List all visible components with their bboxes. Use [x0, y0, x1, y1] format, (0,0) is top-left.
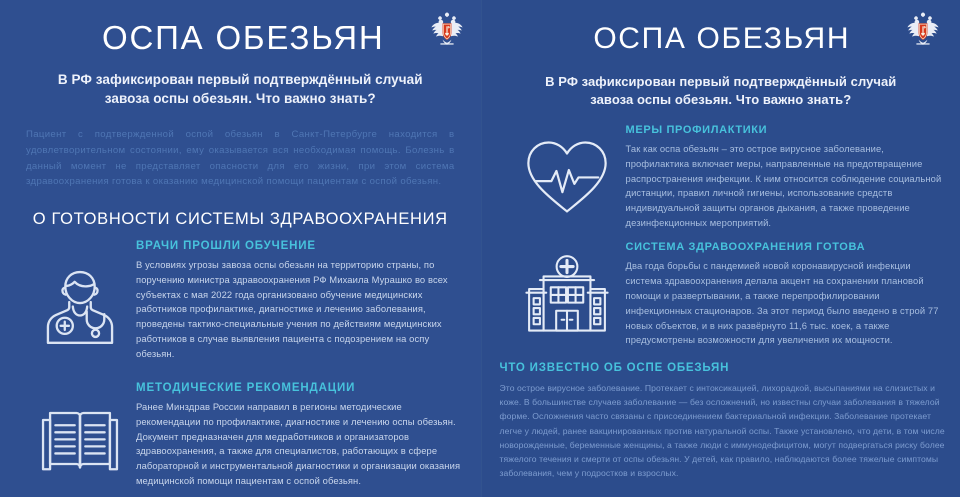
ministry-of-health-russia-emblem-icon	[426, 9, 468, 51]
block-doctors-trained: ВРАЧИ ПРОШЛИ ОБУЧЕНИЕ В условиях угрозы …	[0, 240, 481, 362]
infographic-root: ОСПА ОБЕЗЬЯН В РФ зафиксирован первый по…	[0, 0, 960, 497]
block-body-healthcare-system-ready: Два года борьбы с пандемией новой корона…	[626, 259, 945, 348]
right-panel: ОСПА ОБЕЗЬЯН В РФ зафиксирован первый по…	[481, 0, 960, 497]
ministry-of-health-russia-emblem-icon	[902, 9, 944, 51]
open-book-icon	[24, 382, 136, 480]
block-prevention-measures: МЕРЫ ПРОФИЛАКТИКИ Так как оспа обезьян –…	[482, 124, 960, 231]
intro-paragraph: Пациент с подтвержденной оспой обезьян в…	[26, 127, 455, 190]
doctors-trained-text: ВРАЧИ ПРОШЛИ ОБУЧЕНИЕ В условиях угрозы …	[136, 240, 467, 362]
block-title-doctors-trained: ВРАЧИ ПРОШЛИ ОБУЧЕНИЕ	[136, 240, 467, 252]
page-title: ОСПА ОБЕЗЬЯН	[0, 19, 481, 57]
page-subtitle: В РФ зафиксирован первый подтверждённый …	[523, 73, 919, 110]
block-title-methodical-recommendations: МЕТОДИЧЕСКИЕ РЕКОМЕНДАЦИИ	[136, 382, 467, 394]
left-panel: ОСПА ОБЕЗЬЯН В РФ зафиксирован первый по…	[0, 0, 481, 497]
hospital-building-icon	[508, 241, 626, 336]
footer-title-about-monkeypox: ЧТО ИЗВЕСТНО ОБ ОСПЕ ОБЕЗЬЯН	[500, 362, 960, 374]
prevention-measures-text: МЕРЫ ПРОФИЛАКТИКИ Так как оспа обезьян –…	[626, 124, 945, 231]
page-title: ОСПА ОБЕЗЬЯН	[482, 22, 960, 56]
block-body-doctors-trained: В условиях угрозы завоза оспы обезьян на…	[136, 258, 467, 362]
footer-body-about-monkeypox: Это острое вирусное заболевание. Протека…	[500, 381, 947, 480]
block-title-prevention-measures: МЕРЫ ПРОФИЛАКТИКИ	[626, 124, 945, 136]
block-body-prevention-measures: Так как оспа обезьян – это острое вирусн…	[626, 142, 945, 231]
block-body-methodical-recommendations: Ранее Минздрав России направил в регионы…	[136, 400, 467, 489]
block-healthcare-system-ready: СИСТЕМА ЗДРАВООХРАНЕНИЯ ГОТОВА Два года …	[482, 241, 960, 348]
heart-pulse-icon	[508, 124, 626, 219]
methodical-recommendations-text: МЕТОДИЧЕСКИЕ РЕКОМЕНДАЦИИ Ранее Минздрав…	[136, 382, 467, 489]
section-title-readiness: О ГОТОВНОСТИ СИСТЕМЫ ЗДРАВООХРАНЕНИЯ	[0, 210, 481, 229]
healthcare-system-ready-text: СИСТЕМА ЗДРАВООХРАНЕНИЯ ГОТОВА Два года …	[626, 241, 945, 348]
block-methodical-recommendations: МЕТОДИЧЕСКИЕ РЕКОМЕНДАЦИИ Ранее Минздрав…	[0, 382, 481, 489]
block-title-healthcare-system-ready: СИСТЕМА ЗДРАВООХРАНЕНИЯ ГОТОВА	[626, 241, 945, 253]
page-subtitle: В РФ зафиксирован первый подтверждённый …	[41, 70, 439, 108]
doctor-icon	[24, 240, 136, 350]
